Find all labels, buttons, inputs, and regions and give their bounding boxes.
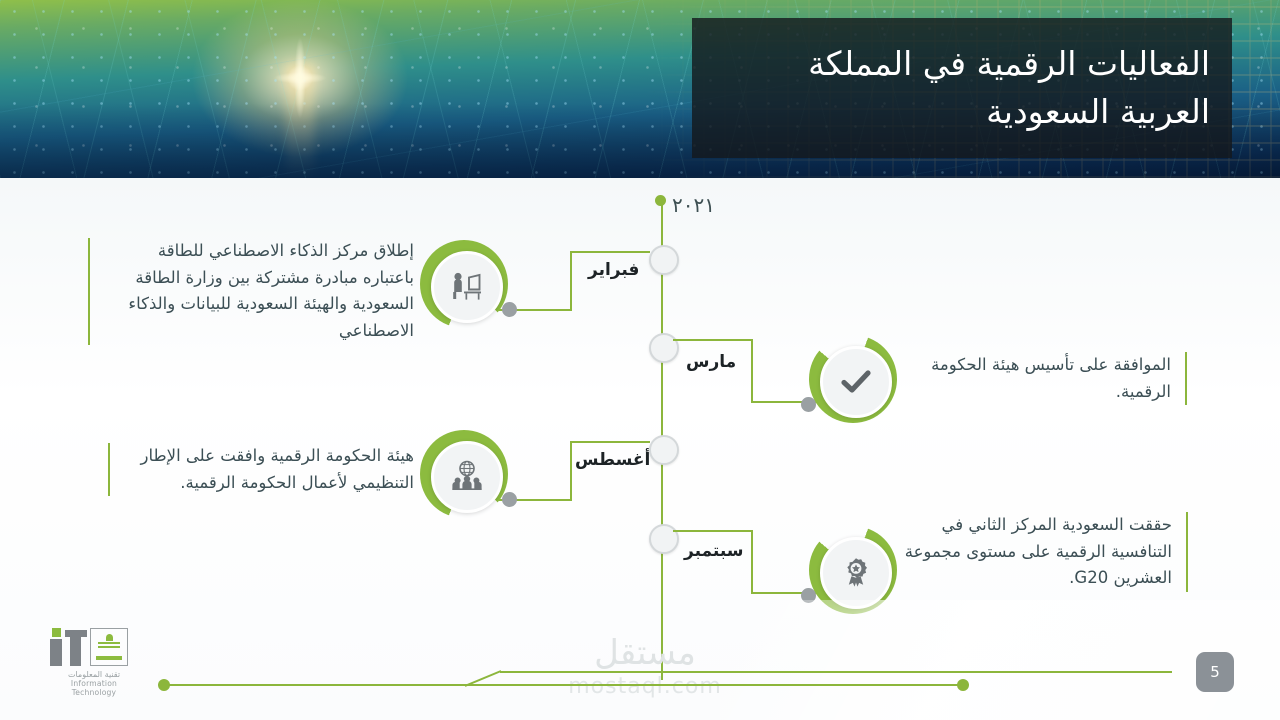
timeline-start-dot [655, 195, 666, 206]
award-ribbon-icon [839, 556, 873, 590]
connector-nub-2 [801, 397, 816, 412]
checkmark-icon [839, 365, 873, 399]
footer-dot-right [957, 679, 969, 691]
emblem-sword-2 [98, 646, 120, 648]
connector-1-top [570, 251, 650, 253]
it-department-logo: تقنية المعلومات Information Technology [50, 628, 138, 697]
connector-2-vert [751, 339, 753, 402]
connector-4-vert [751, 530, 753, 593]
connector-1-vert [570, 251, 572, 311]
event-text-3: هيئة الحكومة الرقمية وافقت على الإطار ال… [108, 443, 414, 496]
emblem-palm [106, 634, 113, 641]
icon-face-3 [431, 441, 503, 513]
footer-line-lower [166, 684, 963, 686]
connector-nub-3 [502, 492, 517, 507]
timeline-node-2[interactable] [649, 333, 679, 363]
logo-mark [50, 628, 138, 666]
event-icon-1[interactable] [420, 240, 508, 328]
month-label-4: سبتمبر [684, 541, 744, 561]
connector-2-top [673, 339, 753, 341]
icon-face-1 [431, 251, 503, 323]
month-label-3: أغسطس [575, 450, 650, 470]
slide: الفعاليات الرقمية في المملكة العربية الس… [0, 0, 1280, 720]
connector-3-top [570, 441, 650, 443]
emblem-band [96, 656, 122, 660]
footer-dot-left [158, 679, 170, 691]
logo-t-stem [70, 637, 81, 666]
event-icon-3[interactable] [420, 430, 508, 518]
event-text-1: إطلاق مركز الذكاء الاصطناعي للطاقة باعتب… [88, 238, 414, 345]
king-khalid-university-emblem-icon [90, 628, 128, 666]
logo-t-bar [65, 630, 87, 637]
event-icon-2[interactable] [809, 335, 897, 423]
logo-letter-t [65, 630, 87, 666]
timeline-node-3[interactable] [649, 435, 679, 465]
event-text-2: الموافقة على تأسيس هيئة الحكومة الرقمية. [905, 352, 1187, 405]
logo-letter-i [50, 628, 62, 666]
timeline-node-1[interactable] [649, 245, 679, 275]
logo-caption-english: Information Technology [50, 679, 138, 697]
connector-nub-1 [502, 302, 517, 317]
logo-caption-arabic: تقنية المعلومات [50, 670, 138, 679]
icon-face-2 [820, 346, 892, 418]
month-label-2: مارس [686, 352, 736, 372]
global-community-icon [449, 459, 485, 495]
event-text-4: حققت السعودية المركز الثاني في التنافسية… [900, 512, 1188, 592]
connector-4-top [673, 530, 753, 532]
timeline-node-4[interactable] [649, 524, 679, 554]
timeline-year-label: ٢٠٢١ [672, 193, 715, 217]
icon-face-4 [820, 537, 892, 609]
page-title: الفعاليات الرقمية في المملكة العربية الس… [692, 40, 1232, 136]
footer-line-upper [500, 671, 1172, 673]
footer-line-diagonal [465, 668, 509, 688]
person-at-computer-icon [448, 268, 486, 306]
title-panel: الفعاليات الرقمية في المملكة العربية الس… [692, 18, 1232, 158]
logo-i-stem [50, 639, 62, 666]
page-number-badge: 5 [1196, 652, 1234, 692]
logo-i-dot [52, 628, 61, 637]
month-label-1: فبراير [588, 260, 639, 280]
emblem-sword-1 [98, 642, 120, 644]
connector-3-vert [570, 441, 572, 501]
